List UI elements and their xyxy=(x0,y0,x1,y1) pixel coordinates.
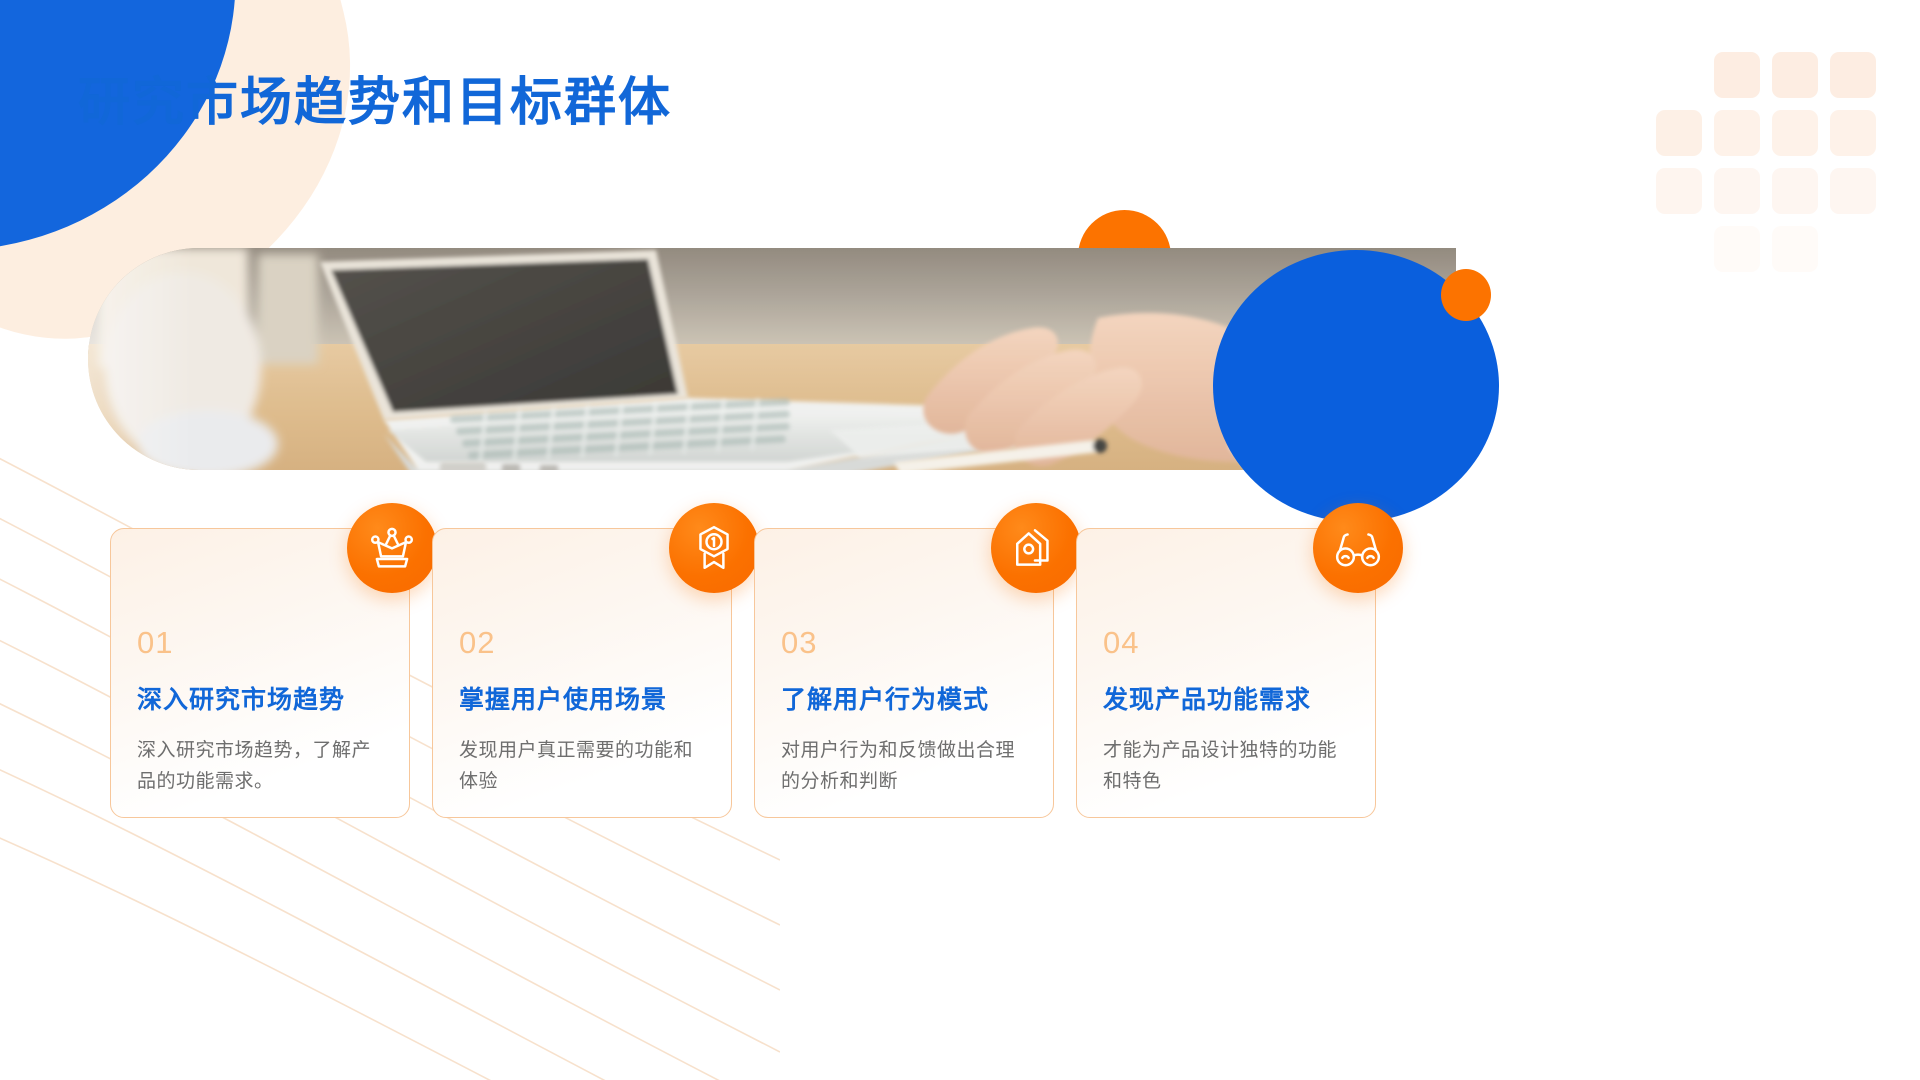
card-number: 03 xyxy=(781,627,1027,658)
card-title: 发现产品功能需求 xyxy=(1103,680,1349,716)
dot-grid-cell xyxy=(1772,226,1818,272)
card-description: 发现用户真正需要的功能和体验 xyxy=(459,736,705,798)
card-title: 了解用户行为模式 xyxy=(781,680,1027,716)
card-number: 04 xyxy=(1103,627,1349,658)
card-number: 02 xyxy=(459,627,705,658)
dot-grid-cell xyxy=(1830,52,1876,98)
orange-circle-small xyxy=(1441,269,1491,321)
dot-grid-cell xyxy=(1714,52,1760,98)
dot-grid-cell xyxy=(1772,110,1818,156)
feature-card[interactable]: 02 掌握用户使用场景 发现用户真正需要的功能和体验 xyxy=(432,528,732,818)
card-description: 才能为产品设计独特的功能和特色 xyxy=(1103,736,1349,798)
card-description: 对用户行为和反馈做出合理的分析和判断 xyxy=(781,736,1027,798)
medal-badge-icon xyxy=(669,503,759,593)
card-title: 深入研究市场趋势 xyxy=(137,680,383,716)
dot-grid-cell xyxy=(1830,168,1876,214)
feature-card-list: 01 深入研究市场趋势 深入研究市场趋势，了解产品的功能需求。 02 掌握用户使… xyxy=(110,528,1810,818)
binoculars-icon xyxy=(1313,503,1403,593)
card-title: 掌握用户使用场景 xyxy=(459,680,705,716)
card-description: 深入研究市场趋势，了解产品的功能需求。 xyxy=(137,736,383,798)
houses-icon xyxy=(991,503,1081,593)
feature-card[interactable]: 03 了解用户行为模式 对用户行为和反馈做出合理的分析和判断 xyxy=(754,528,1054,818)
dot-grid-cell xyxy=(1830,110,1876,156)
feature-card[interactable]: 04 发现产品功能需求 才能为产品设计独特的功能和特色 xyxy=(1076,528,1376,818)
page-title: 研究市场趋势和目标群体 xyxy=(78,60,672,135)
feature-card[interactable]: 01 深入研究市场趋势 深入研究市场趋势，了解产品的功能需求。 xyxy=(110,528,410,818)
dot-grid-cell xyxy=(1714,226,1760,272)
dot-grid-cell xyxy=(1772,168,1818,214)
peach-dot-grid xyxy=(1656,52,1876,272)
dot-grid-cell xyxy=(1656,168,1702,214)
card-number: 01 xyxy=(137,627,383,658)
dot-grid-cell xyxy=(1714,110,1760,156)
dot-grid-cell xyxy=(1714,168,1760,214)
crown-icon xyxy=(347,503,437,593)
dot-grid-cell xyxy=(1772,52,1818,98)
dot-grid-cell xyxy=(1656,110,1702,156)
